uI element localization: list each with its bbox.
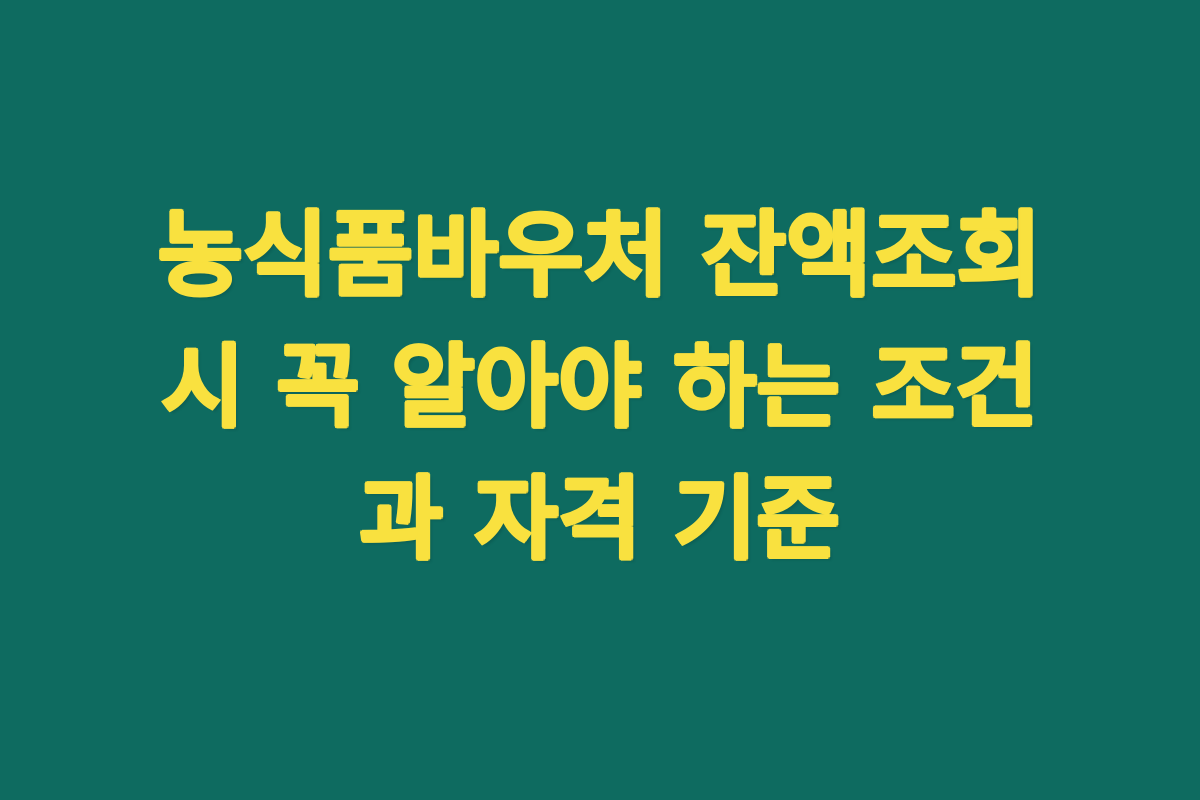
headline-line-3: 과 자격 기준 — [70, 454, 1130, 586]
headline-block: 농식품바우처 잔액조회 시 꼭 알아야 하는 조건 과 자격 기준 — [70, 190, 1130, 586]
thumbnail-canvas: 농식품바우처 잔액조회 시 꼭 알아야 하는 조건 과 자격 기준 — [0, 0, 1200, 800]
headline-line-2: 시 꼭 알아야 하는 조건 — [70, 322, 1130, 454]
headline-line-1: 농식품바우처 잔액조회 — [70, 190, 1130, 322]
